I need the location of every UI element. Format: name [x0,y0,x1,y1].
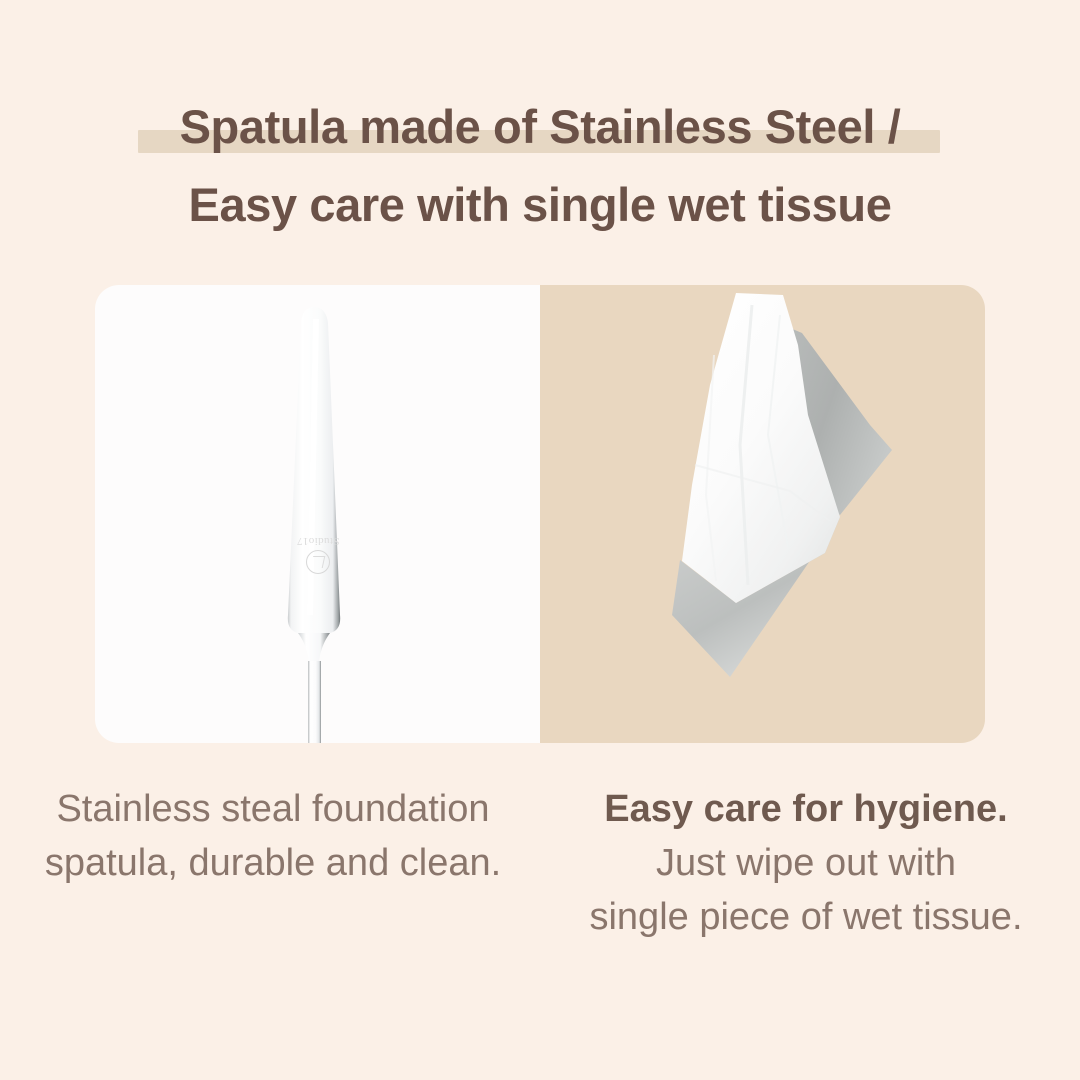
captions-row: Stainless steal foundation spatula, dura… [0,782,1080,944]
wet-tissue-illustration [540,285,985,743]
spatula-handle [308,661,321,743]
caption-right: Easy care for hygiene. Just wipe out wit… [540,782,1080,944]
headline-line-2-text: Easy care with single wet tissue [189,178,892,231]
caption-left-line-1: Stainless steal foundation [20,782,526,836]
wet-tissue-photo-panel [540,285,985,743]
product-image-panel: Studio17 [95,285,985,743]
headline-line-2: Easy care with single wet tissue [0,166,1080,244]
spatula-illustration [218,285,418,743]
spatula-photo-panel: Studio17 [95,285,540,743]
product-info-card: Spatula made of Stainless Steel / Easy c… [0,0,1080,1080]
tissue-front-sheet [682,293,840,603]
spatula-image: Studio17 [95,285,540,743]
page-title: Spatula made of Stainless Steel / Easy c… [0,88,1080,244]
caption-right-line-1: Easy care for hygiene. [554,782,1058,836]
spatula-neck [298,633,330,663]
caption-right-line-2: Just wipe out with [554,836,1058,890]
caption-left: Stainless steal foundation spatula, dura… [0,782,540,944]
headline-line-1-text: Spatula made of Stainless Steel / [180,100,901,153]
headline-line-1: Spatula made of Stainless Steel / [0,88,1080,166]
caption-right-line-3: single piece of wet tissue. [554,890,1058,944]
caption-left-line-2: spatula, durable and clean. [20,836,526,890]
